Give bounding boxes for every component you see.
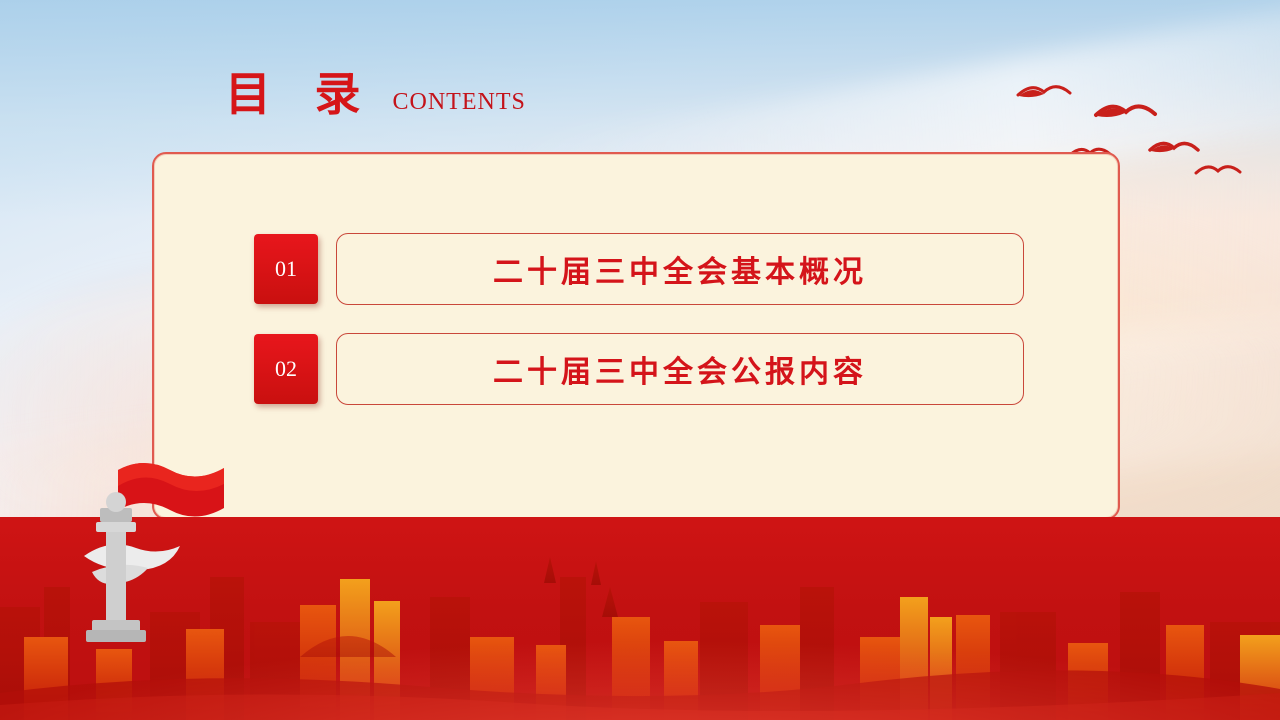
list-item-label: 二十届三中全会公报内容 <box>493 347 867 391</box>
page-title: 目 录 <box>225 72 377 118</box>
monument-flag-svg <box>70 460 250 660</box>
list-item[interactable]: 02 二十届三中全会公报内容 <box>254 334 1024 404</box>
contents-list: 01 二十届三中全会基本概况 02 二十届三中全会公报内容 <box>254 234 1024 434</box>
page-subtitle: CONTENTS <box>393 89 526 118</box>
page-title-group: 目 录 CONTENTS <box>225 72 526 118</box>
list-item-box[interactable]: 二十届三中全会基本概况 <box>336 233 1024 305</box>
list-item-label: 二十届三中全会基本概况 <box>493 247 867 291</box>
list-item-number: 01 <box>254 234 318 304</box>
list-item-number: 02 <box>254 334 318 404</box>
list-item[interactable]: 01 二十届三中全会基本概况 <box>254 234 1024 304</box>
list-item-box[interactable]: 二十届三中全会公报内容 <box>336 333 1024 405</box>
monument-and-flag-icon <box>70 460 250 660</box>
contents-panel: 01 二十届三中全会基本概况 02 二十届三中全会公报内容 <box>152 152 1120 520</box>
slide-root: 目 录 CONTENTS 01 二十届三中全会基本概况 02 二十届三中全会公报… <box>0 0 1280 720</box>
